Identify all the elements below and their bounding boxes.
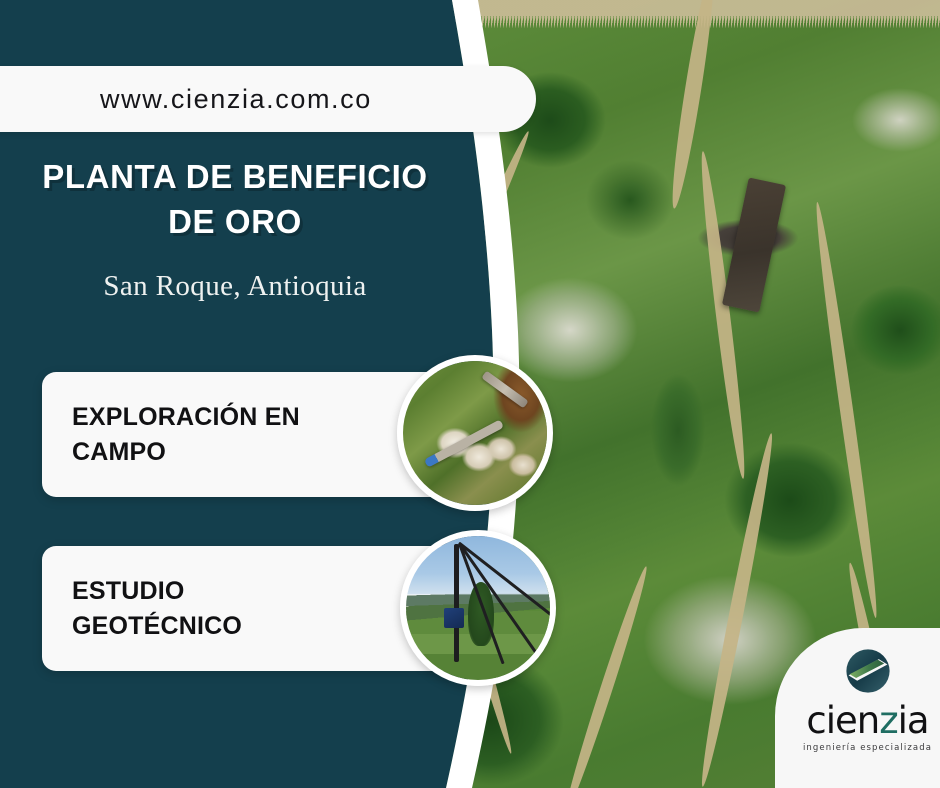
page-title-line1: PLANTA DE BENEFICIO [42,158,427,195]
service-card-label: EXPLORACIÓN EN CAMPO [72,400,342,469]
building-roof [722,177,786,312]
promotional-poster: www.cienzia.com.co PLANTA DE BENEFICIO D… [0,0,940,788]
wordmark-part2: ia [898,699,929,742]
drill-rig-image [406,536,550,680]
cienzia-sphere-icon [841,644,895,698]
page-title: PLANTA DE BENEFICIO DE ORO [0,155,470,245]
hammer-and-samples-image [403,361,547,505]
drill-mast [454,544,459,662]
brand-tagline: ingeniería especializada [803,743,932,753]
website-url-text: www.cienzia.com.co [100,84,372,115]
dirt-trail [696,432,778,788]
dirt-trail [560,565,652,788]
wordmark-z: z [879,699,897,742]
drilling-rig-tripod-hillside-photo [400,530,556,686]
drill-motor-box [444,608,464,628]
website-url-banner[interactable]: www.cienzia.com.co [0,66,536,132]
tree-shrub [468,582,494,646]
geological-hammer-rock-samples-photo [397,355,553,511]
page-subtitle-location: San Roque, Antioquia [0,270,470,303]
service-card-geotecnico[interactable]: ESTUDIO GEOTÉCNICO [42,546,462,671]
dirt-trail [696,150,750,479]
wordmark-part1: cien [806,699,879,742]
brand-wordmark: cienzia [806,702,928,739]
page-title-line2: DE ORO [0,200,470,245]
dirt-trail [666,0,719,210]
service-card-label: ESTUDIO GEOTÉCNICO [72,574,342,643]
dirt-trail [811,201,882,619]
